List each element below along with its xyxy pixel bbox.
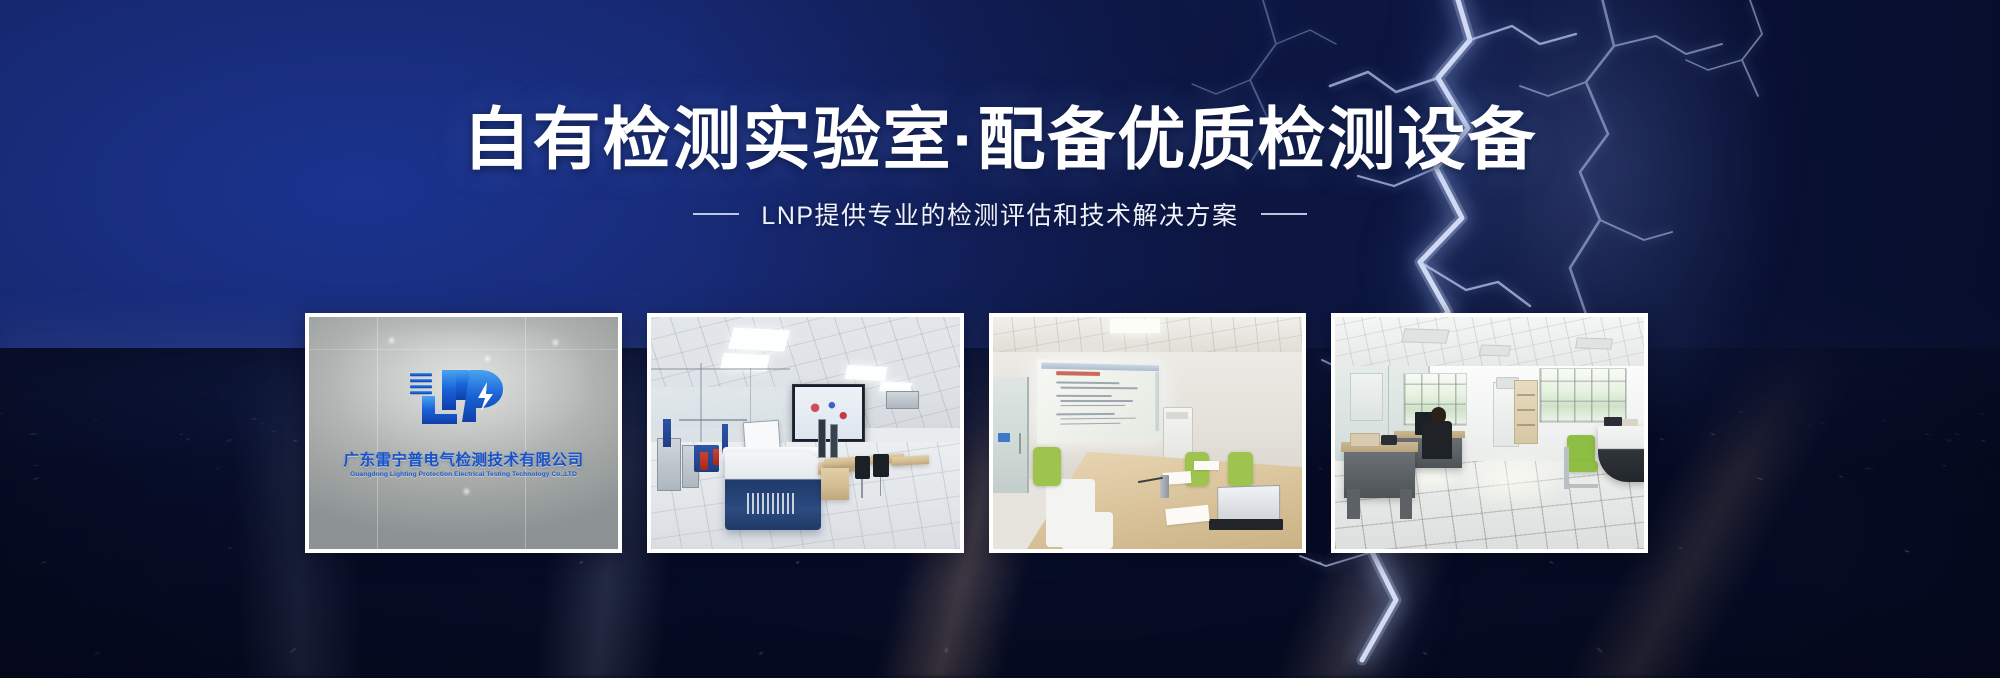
shelf-divider: [1517, 424, 1535, 426]
ceiling-duct: [886, 391, 919, 409]
desk-leg: [1400, 489, 1412, 519]
chair-leg: [880, 477, 882, 496]
ceiling-light: [728, 327, 790, 351]
photo-office-room[interactable]: [1331, 313, 1648, 553]
ceiling-light-spot: [464, 489, 469, 494]
slide-text-line: [1056, 413, 1115, 415]
document-paper: [1194, 461, 1219, 470]
ac-vent: [1166, 412, 1188, 419]
photo-meeting-room[interactable]: [989, 313, 1306, 553]
chair-green: [1033, 447, 1061, 486]
slide-text-line: [1060, 387, 1138, 389]
rule-left-icon: [693, 213, 739, 215]
office-chair: [873, 454, 888, 477]
lnp-logo-icon: [406, 366, 522, 426]
office-chair: [855, 456, 870, 479]
counter-monitor: [1604, 417, 1623, 426]
hero-banner: 自有检测实验室·配备优质检测设备 LNP提供专业的检测评估和技术解决方案: [0, 0, 2000, 678]
subtitle-row: LNP提供专业的检测评估和技术解决方案: [0, 196, 2000, 232]
photo-meeting-room-image: [993, 317, 1302, 549]
slide-title-block: [1056, 372, 1100, 377]
photo-gallery: 广东雷宁普电气检测技术有限公司 Guangdong Lighting Prote…: [305, 313, 1648, 553]
slide-header-bar: [1041, 363, 1159, 371]
bookshelf: [1514, 380, 1538, 445]
desk-leg: [1347, 489, 1359, 519]
chair-green-seat: [1567, 461, 1598, 473]
insulator-red: [700, 452, 708, 471]
page-subtitle: LNP提供专业的检测评估和技术解决方案: [761, 196, 1238, 232]
shelf-divider: [1517, 394, 1535, 396]
tv-screen-content: [795, 387, 862, 439]
chair-green: [1228, 452, 1253, 487]
chair-seat-white: [1061, 512, 1114, 549]
slide-text-line: [1060, 423, 1121, 425]
person-body: [1422, 421, 1453, 458]
test-column: [663, 419, 671, 447]
photo-office-room-image: [1335, 317, 1644, 549]
photo-testing-laboratory[interactable]: [647, 313, 964, 553]
control-console: [725, 452, 821, 531]
wall-mounted-tv: [792, 384, 865, 442]
shelf-divider: [1517, 409, 1535, 411]
projector-screen: [1037, 359, 1162, 444]
photo-testing-laboratory-image: [651, 317, 960, 549]
sign-text-chinese: 广东雷宁普电气检测技术有限公司: [343, 448, 583, 470]
ceiling-vent: [1575, 337, 1613, 350]
slide-scrollbar: [1156, 372, 1159, 432]
slide-text-line: [1060, 405, 1126, 407]
window-right: [1539, 368, 1628, 423]
slide-text-line: [1060, 418, 1135, 420]
desk-tray: [1350, 433, 1380, 447]
rule-right-icon: [1261, 213, 1307, 215]
ceiling-light: [1110, 319, 1159, 333]
page-title: 自有检测实验室·配备优质检测设备: [0, 104, 2000, 176]
slide-text-line: [1056, 395, 1112, 397]
door-handle: [1019, 433, 1021, 454]
chair-frame: [1564, 447, 1570, 489]
sunlight-patch: [1459, 452, 1564, 508]
workbench-cabinet: [821, 468, 849, 500]
chair-leg: [861, 479, 863, 498]
chair-frame: [1564, 484, 1598, 488]
test-post: [830, 424, 838, 458]
ceiling-vent: [1479, 344, 1511, 356]
slide-text-line: [1060, 400, 1133, 402]
wall-equipment: [1350, 373, 1383, 421]
headline-block: 自有检测实验室·配备优质检测设备 LNP提供专业的检测评估和技术解决方案: [0, 104, 2000, 232]
counter-item: [1622, 419, 1637, 426]
test-post: [818, 419, 826, 458]
overhead-pipe: [679, 419, 747, 421]
glass-rail: [651, 368, 790, 370]
sign-text-english: Guangdong Lighting Protection Electrical…: [350, 471, 577, 478]
ceiling-vent: [1401, 328, 1450, 343]
laptop-keyboard: [1209, 519, 1283, 531]
photo-company-sign-image: 广东雷宁普电气检测技术有限公司 Guangdong Lighting Prote…: [309, 317, 618, 549]
window-mullion-grid: [1540, 369, 1627, 422]
insulator-red: [713, 449, 719, 465]
desk-phone: [1381, 435, 1396, 444]
photo-company-sign[interactable]: 广东雷宁普电气检测技术有限公司 Guangdong Lighting Prote…: [305, 313, 622, 553]
console-vent: [747, 493, 796, 514]
door-sign: [998, 433, 1010, 442]
slide-text-line: [1056, 382, 1120, 384]
ceiling-light: [844, 365, 887, 381]
